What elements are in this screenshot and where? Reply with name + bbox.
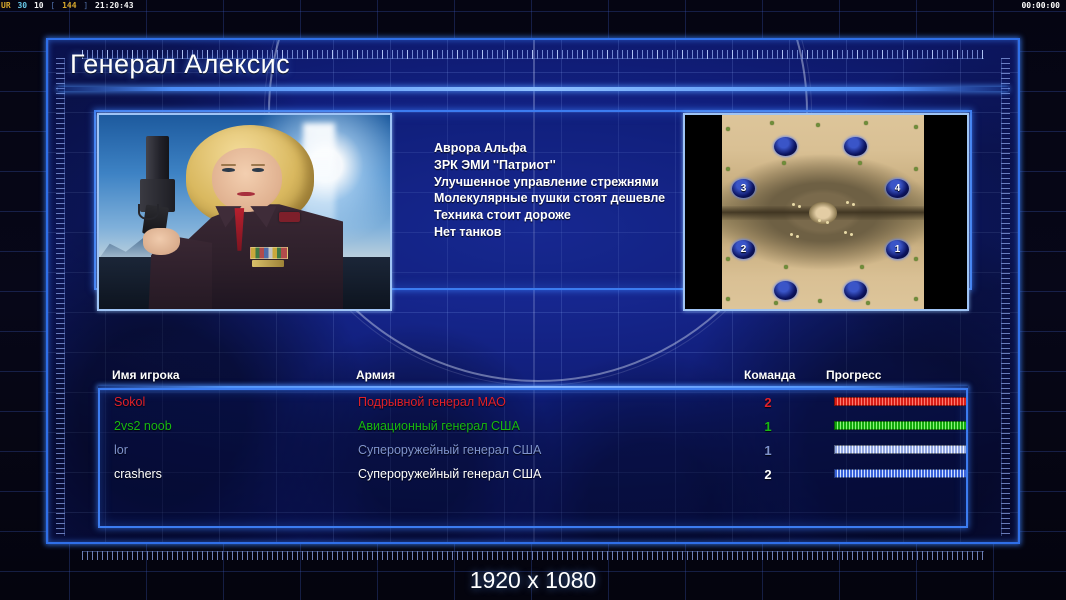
column-header-army: Армия: [356, 368, 395, 382]
player-table-header: Имя игрока Армия Команда Прогресс: [98, 368, 968, 386]
map-start-position[interactable]: 2: [732, 240, 755, 259]
map-rock-marker: [798, 205, 801, 208]
map-tree-marker: [818, 299, 822, 303]
game-screen: UR 30 10 [ 144 ] 21:20:43 00:00:00 Генер…: [0, 0, 1066, 600]
map-tree-marker: [726, 167, 730, 171]
portrait-eyebrow-left: [221, 164, 236, 166]
progress-bar: [834, 421, 968, 430]
player-army: Супероружейный генерал США: [358, 443, 541, 457]
description-line: ЗРК ЭМИ ''Патриот'': [434, 157, 683, 174]
player-table-panel: SokolПодрывной генерал МАО22vs2 noobАвиа…: [98, 388, 968, 528]
map-start-position[interactable]: [844, 137, 867, 156]
map-start-position[interactable]: [844, 281, 867, 300]
map-rock-marker: [826, 221, 829, 224]
table-row: 2vs2 noobАвиационный генерал США1: [100, 414, 966, 438]
table-row: crashersСупероружейный генерал США2: [100, 462, 966, 486]
map-start-position[interactable]: 3: [732, 179, 755, 198]
column-header-team: Команда: [744, 368, 795, 382]
status-value-frames: 144: [61, 0, 77, 12]
portrait-face: [212, 148, 282, 212]
map-tree-marker: [914, 297, 918, 301]
description-line: Молекулярные пушки стоят дешевле: [434, 190, 683, 207]
portrait-lips: [237, 192, 254, 197]
player-team: 1: [755, 443, 781, 458]
status-bracket-close: ]: [82, 0, 89, 12]
map-tree-marker: [864, 121, 868, 125]
ruler-bottom: [82, 551, 984, 560]
map-start-position[interactable]: [774, 281, 797, 300]
column-header-player-name: Имя игрока: [112, 368, 180, 382]
map-tree-marker: [726, 297, 730, 301]
general-info-panel: Аврора Альфа ЗРК ЭМИ ''Патриот'' Улучшен…: [94, 110, 972, 290]
progress-bar: [834, 445, 968, 454]
title-bar: Генерал Алексис: [58, 38, 1008, 90]
map-tree-marker: [914, 125, 918, 129]
column-header-progress: Прогресс: [826, 368, 881, 382]
map-rock-marker: [844, 231, 847, 234]
portrait-medal-ribbons: [250, 247, 288, 259]
map-tree-marker: [860, 265, 864, 269]
player-army: Супероружейный генерал США: [358, 467, 541, 481]
description-line: Нет танков: [434, 224, 683, 241]
map-rock-marker: [790, 233, 793, 236]
player-name: lor: [114, 443, 128, 457]
description-line: Улучшенное управление стрежнями: [434, 174, 683, 191]
description-line: Техника стоит дороже: [434, 207, 683, 224]
map-tree-marker: [866, 301, 870, 305]
resolution-label: 1920 x 1080: [0, 567, 1066, 594]
portrait-eyebrow-right: [251, 164, 266, 166]
status-value-fps: 30: [16, 0, 28, 12]
map-tree-marker: [858, 161, 862, 165]
player-name: 2vs2 noob: [114, 419, 172, 433]
map-preview[interactable]: 3421: [683, 113, 969, 311]
top-status-bar: UR 30 10 [ 144 ] 21:20:43: [0, 0, 1066, 12]
status-label-ur: UR: [0, 0, 12, 12]
map-tree-marker: [784, 265, 788, 269]
page-title: Генерал Алексис: [58, 49, 290, 80]
portrait-medal-bar: [252, 260, 284, 268]
map-rock-marker: [846, 201, 849, 204]
player-table-rows: SokolПодрывной генерал МАО22vs2 noobАвиа…: [100, 390, 966, 486]
progress-bar: [834, 469, 968, 478]
map-rock-marker: [818, 219, 821, 222]
table-row: lorСупероружейный генерал США1: [100, 438, 966, 462]
portrait-shoulder-board: [279, 212, 299, 222]
pistol-trigger-guard-icon: [138, 204, 158, 220]
table-row: SokolПодрывной генерал МАО2: [100, 390, 966, 414]
map-start-position[interactable]: 4: [886, 179, 909, 198]
map-centre-feature: [809, 202, 837, 223]
status-timestamp: 21:20:43: [94, 0, 135, 12]
map-rock-marker: [792, 203, 795, 206]
map-tree-marker: [726, 127, 730, 131]
map-tree-marker: [816, 123, 820, 127]
map-tree-marker: [782, 161, 786, 165]
map-tree-marker: [914, 257, 918, 261]
map-tree-marker: [726, 257, 730, 261]
map-start-position[interactable]: [774, 137, 797, 156]
match-clock: 00:00:00: [1021, 0, 1060, 12]
player-team: 2: [755, 395, 781, 410]
map-tree-marker: [914, 167, 918, 171]
player-army: Подрывной генерал МАО: [358, 395, 506, 409]
player-name: crashers: [114, 467, 162, 481]
player-team: 2: [755, 467, 781, 482]
map-rock-marker: [796, 235, 799, 238]
progress-bar: [834, 397, 968, 406]
player-name: Sokol: [114, 395, 145, 409]
general-description: Аврора Альфа ЗРК ЭМИ ''Патриот'' Улучшен…: [392, 112, 683, 288]
title-divider: [58, 87, 1008, 91]
status-bracket-open: [: [49, 0, 56, 12]
description-line: Аврора Альфа: [434, 140, 683, 157]
map-terrain: 3421: [722, 115, 924, 309]
loading-screen-frame: Генерал Алексис: [36, 30, 1030, 564]
map-rock-marker: [850, 233, 853, 236]
portrait-hand: [143, 228, 181, 255]
player-team: 1: [755, 419, 781, 434]
map-tree-marker: [770, 121, 774, 125]
general-portrait: [97, 113, 392, 311]
player-army: Авиационный генерал США: [358, 419, 520, 433]
map-start-position[interactable]: 1: [886, 240, 909, 259]
map-tree-marker: [774, 301, 778, 305]
status-value-ping: 10: [33, 0, 45, 12]
map-rock-marker: [852, 203, 855, 206]
